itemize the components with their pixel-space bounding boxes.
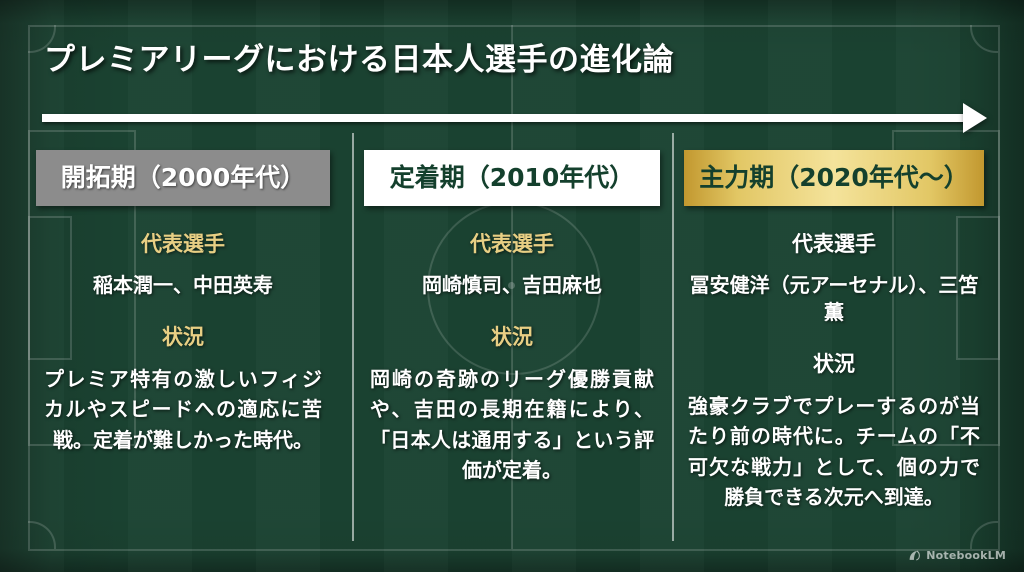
players-label-establishment: 代表選手 (364, 228, 660, 258)
column-divider-1 (352, 133, 354, 541)
era-column-mainstay: 主力期（2020年代〜） 代表選手 冨安健洋（元アーセナル）、三笘薫 状況 強豪… (684, 150, 984, 513)
players-value-mainstay: 冨安健洋（元アーセナル）、三笘薫 (684, 272, 984, 326)
era-column-establishment: 定着期（2010年代） 代表選手 岡崎慎司、吉田麻也 状況 岡崎の奇跡のリーグ優… (364, 150, 660, 486)
situation-label-mainstay: 状況 (684, 348, 984, 378)
situation-value-establishment: 岡崎の奇跡のリーグ優勝貢献や、吉田の長期在籍により、「日本人は通用する」という評… (364, 364, 660, 486)
situation-label-establishment: 状況 (364, 321, 660, 351)
players-label-mainstay: 代表選手 (684, 228, 984, 258)
column-divider-2 (672, 133, 674, 541)
era-header-establishment: 定着期（2010年代） (364, 150, 660, 206)
players-label-pioneer: 代表選手 (36, 228, 330, 258)
era-column-pioneer: 開拓期（2000年代） 代表選手 稲本潤一、中田英寿 状況 プレミア特有の激しい… (36, 150, 330, 455)
players-value-pioneer: 稲本潤一、中田英寿 (36, 272, 330, 299)
timeline-arrow-head-icon (963, 103, 987, 133)
slide-canvas: プレミアリーグにおける日本人選手の進化論 開拓期（2000年代） 代表選手 稲本… (0, 0, 1024, 572)
watermark: NotebookLM (908, 549, 1006, 562)
players-value-establishment: 岡崎慎司、吉田麻也 (364, 272, 660, 299)
notebooklm-logo-icon (908, 549, 921, 562)
slide-title: プレミアリーグにおける日本人選手の進化論 (44, 34, 674, 79)
situation-value-mainstay: 強豪クラブでプレーするのが当たり前の時代に。チームの「不可欠な戦力」として、個の… (684, 391, 984, 513)
situation-label-pioneer: 状況 (36, 321, 330, 351)
era-header-mainstay: 主力期（2020年代〜） (684, 150, 984, 206)
watermark-label: NotebookLM (926, 549, 1006, 562)
situation-value-pioneer: プレミア特有の激しいフィジカルやスピードへの適応に苦戦。定着が難しかった時代。 (36, 364, 330, 455)
era-header-pioneer: 開拓期（2000年代） (36, 150, 330, 206)
timeline-arrow-bar (42, 114, 972, 122)
